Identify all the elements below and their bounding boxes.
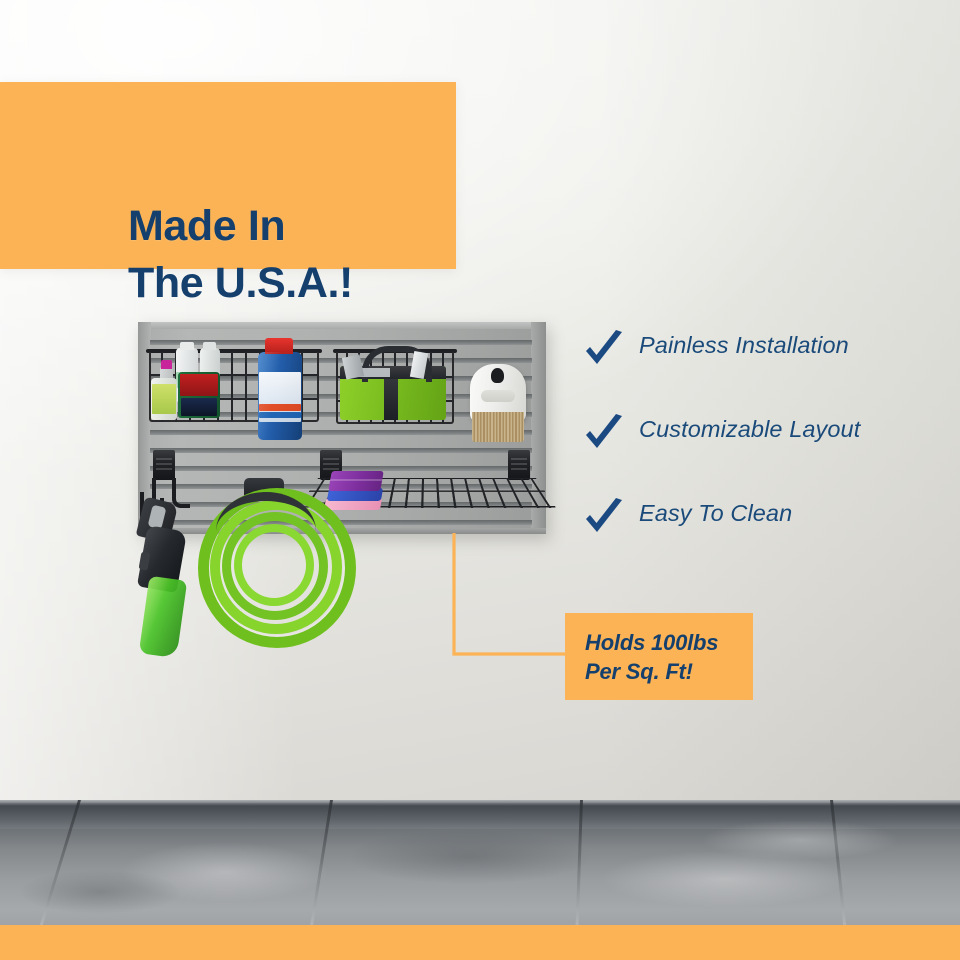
wire-shelf-wire [436,478,440,508]
dustpan-and-brush [466,350,528,442]
bracket-ridge [323,458,339,460]
cleaner-bottle-white-cap [180,342,194,350]
car-wax-label-image [181,398,217,416]
banner-headline: Made In The U.S.A.! [128,198,353,312]
wire-shelf-wire [478,478,489,508]
tool-bag-pocket-divider [384,379,398,420]
spray-bottle-pink-cap [161,360,172,369]
feature-list: Painless Installation Customizable Layou… [583,326,913,578]
basket-vertical-wire [231,352,233,422]
wire-shelf-wire [520,478,539,508]
tile-texture [20,870,180,914]
bracket-ridge [323,463,339,465]
car-wax-label-red [180,374,218,396]
bracket-ridge [511,463,527,465]
bottom-accent-bar [0,925,960,960]
shelf-bracket-left [153,450,175,480]
bracket-ridge [156,458,172,460]
weight-capacity-callout: Holds 100lbs Per Sq. Ft! [565,613,753,700]
wire-shelf-wire [492,478,506,508]
bracket-ridge [511,468,527,470]
green-garden-hose-coil [198,478,334,626]
bracket-ridge [511,458,527,460]
feature-item-easy-to-clean: Easy To Clean [583,494,913,578]
handheld-vacuum [136,500,192,658]
dustpan-grip-slot [481,390,515,402]
feature-label: Customizable Layout [639,416,860,443]
vacuum-dust-cup-gloss [139,576,187,659]
bracket-ridge [323,468,339,470]
feature-label: Easy To Clean [639,500,792,527]
feature-item-customizable-layout: Customizable Layout [583,410,913,494]
check-icon [583,330,625,372]
made-in-usa-banner: Made In The U.S.A.! [0,82,456,269]
tile-texture [350,830,590,884]
wire-shelf-wire [450,478,456,508]
check-icon [583,414,625,456]
feature-item-painless-installation: Painless Installation [583,326,913,410]
dustpan-hang-hole [491,368,504,383]
green-cleaner-label [152,384,176,414]
folded-towel-purple [328,471,384,491]
shelf-bracket-right [508,450,530,480]
basket-vertical-wire [245,352,247,422]
baseboard-highlight [0,800,960,806]
wire-shelf-wire [404,478,409,508]
tile-texture [700,820,900,860]
tiled-floor [0,800,960,928]
bracket-ridge [156,463,172,465]
feature-label: Painless Installation [639,332,849,359]
hose-coil-core [234,524,314,606]
wire-shelf-wire [421,478,424,508]
cleaner-bottle-clear-cap [203,342,216,350]
bracket-ridge [156,468,172,470]
callout-text: Holds 100lbs Per Sq. Ft! [585,628,718,687]
folded-towel-purple-fold [330,479,382,481]
product-marketing-image: Made In The U.S.A.! Painless Installatio… [0,0,960,960]
detergent-bottle-gloss [258,352,302,440]
brush-bristles [472,412,524,442]
wire-shelf-wire [464,478,473,508]
wire-shelf-wire [506,478,523,508]
wire-shelf-wire [388,478,396,508]
